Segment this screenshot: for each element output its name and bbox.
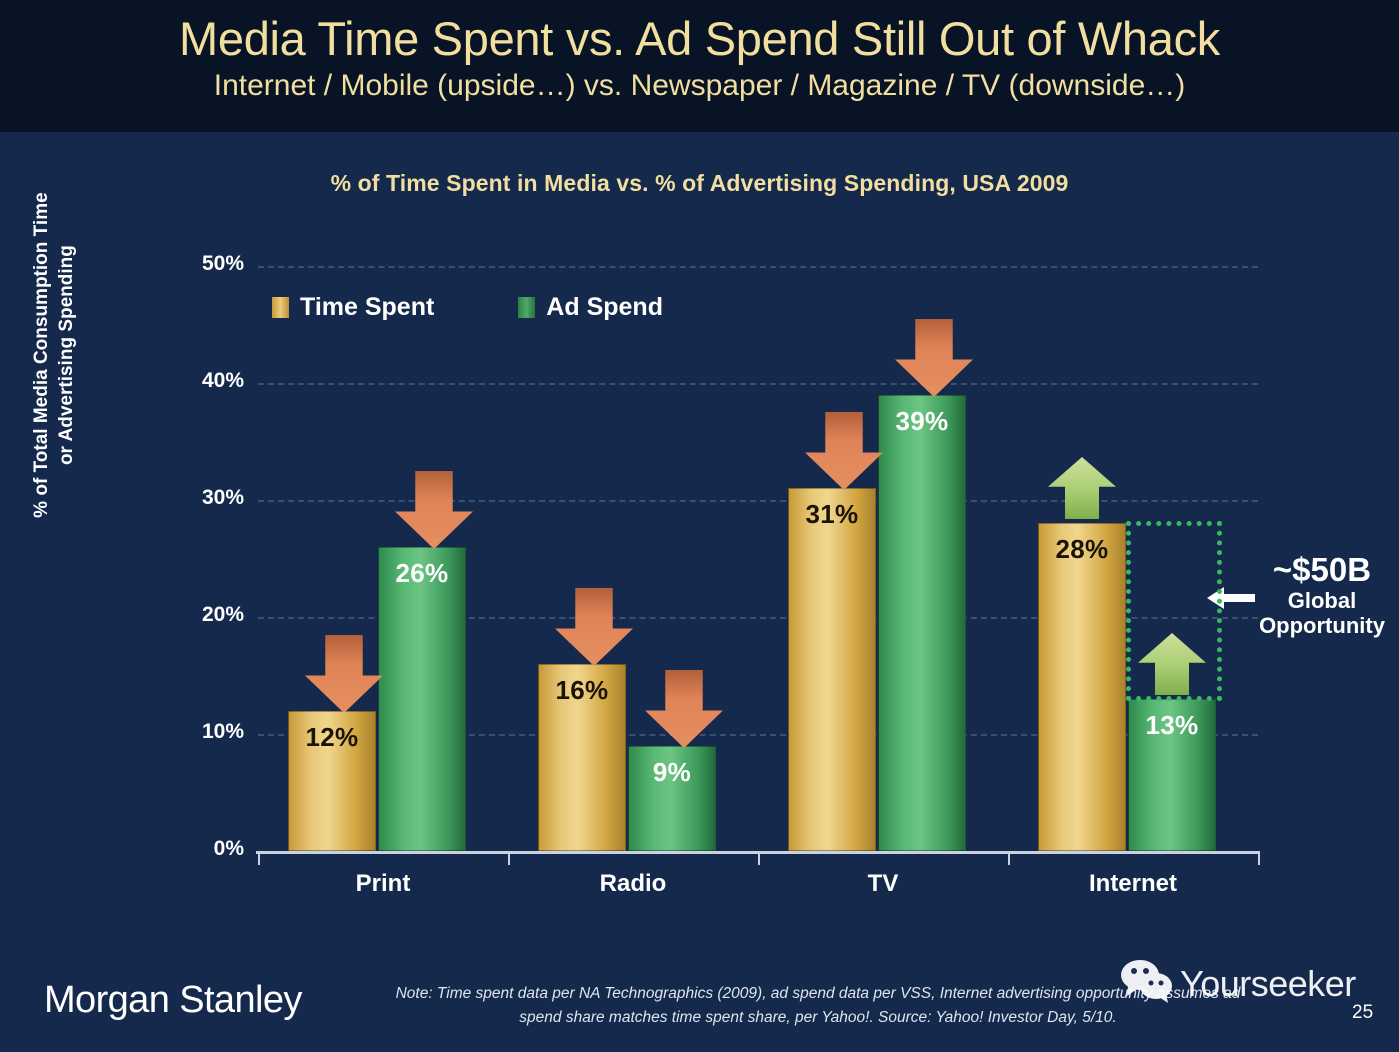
legend-label-time-spent: Time Spent [300,293,434,322]
x-axis-tick [508,851,510,865]
bar-print-ad-spend[interactable]: 26% [378,547,466,851]
bar-value-label: 26% [379,558,465,589]
x-axis-group-label-tv: TV [758,870,1008,898]
legend-swatch-ad-spend-icon [518,297,535,318]
x-axis-tick [1008,851,1010,865]
bar-value-label: 28% [1039,534,1125,565]
down-arrow-icon [895,319,973,402]
x-axis-group-label-radio: Radio [508,870,758,898]
bar-radio-ad-spend[interactable]: 9% [628,746,716,851]
up-arrow-icon [1048,457,1116,524]
opportunity-line2: Global [1246,589,1398,614]
y-axis-tick-label: 50% [184,252,244,276]
morgan-stanley-logo: Morgan Stanley [44,979,302,1022]
legend-item-ad-spend: Ad Spend [518,293,663,322]
down-arrow-icon [305,635,383,718]
bar-value-label: 13% [1129,710,1215,741]
gridline [258,383,1258,385]
opportunity-amount: ~$50B [1246,552,1398,589]
watermark: Yourseeker [1118,958,1356,1009]
footnote-line2: spend share matches time spent share, pe… [318,1006,1318,1030]
bar-radio-time-spent[interactable]: 16% [538,664,626,851]
bar-print-time-spent[interactable]: 12% [288,711,376,851]
legend-item-time-spent: Time Spent [272,293,434,322]
bar-value-label: 16% [539,675,625,706]
y-axis-tick-label: 30% [184,486,244,510]
slide-header-band: Media Time Spent vs. Ad Spend Still Out … [0,0,1399,132]
plot-area: 12%26%16%9%31%39%28%13% [258,266,1258,851]
y-axis-tick-label: 10% [184,720,244,744]
gridline [258,266,1258,268]
page-title: Media Time Spent vs. Ad Spend Still Out … [0,0,1399,63]
x-axis-group-label-print: Print [258,870,508,898]
chart-legend: Time Spent Ad Spend [272,293,663,322]
x-axis-group-label-internet: Internet [1008,870,1258,898]
bar-internet-ad-spend[interactable]: 13% [1128,699,1216,851]
bar-internet-time-spent[interactable]: 28% [1038,523,1126,851]
x-axis-tick [258,851,260,865]
page-subtitle: Internet / Mobile (upside…) vs. Newspape… [0,63,1399,104]
opportunity-gap-box [1126,521,1222,701]
y-axis-tick-label: 20% [184,603,244,627]
bar-value-label: 31% [789,499,875,530]
watermark-text: Yourseeker [1180,963,1356,1005]
opportunity-callout: ~$50B Global Opportunity [1246,552,1398,638]
chart-title: % of Time Spent in Media vs. % of Advert… [0,170,1399,197]
bar-tv-time-spent[interactable]: 31% [788,488,876,851]
legend-label-ad-spend: Ad Spend [546,293,663,322]
bar-tv-ad-spend[interactable]: 39% [878,395,966,851]
down-arrow-icon [555,588,633,671]
y-axis-tick-label: 40% [184,369,244,393]
down-arrow-icon [645,670,723,753]
down-arrow-icon [395,471,473,554]
bar-value-label: 12% [289,722,375,753]
down-arrow-icon [805,412,883,495]
bar-value-label: 39% [879,406,965,437]
x-axis-tick [1258,851,1260,865]
x-axis-tick [758,851,760,865]
bar-value-label: 9% [629,757,715,788]
legend-swatch-time-spent-icon [272,297,289,318]
wechat-icon [1118,958,1176,1009]
y-axis-tick-label: 0% [184,837,244,861]
opportunity-line3: Opportunity [1246,614,1398,639]
